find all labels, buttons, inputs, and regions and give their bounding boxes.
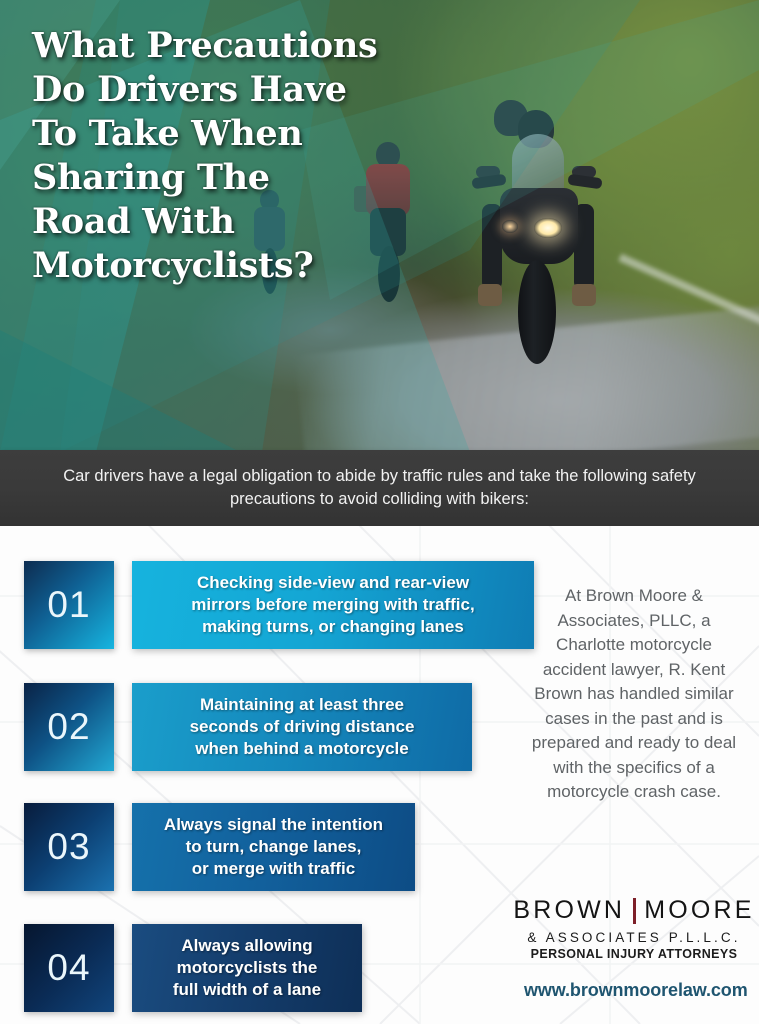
list-item-number-badge: 03 — [24, 803, 114, 891]
logo-name-left: BROWN — [513, 896, 625, 925]
list-item-bar: Always signal the intention to turn, cha… — [132, 803, 415, 891]
content-section: 01 Checking side-view and rear-view mirr… — [0, 526, 759, 1024]
list-item-text: Always signal the intention to turn, cha… — [164, 814, 383, 880]
list-item[interactable]: 04 Always allowing motorcyclists the ful… — [0, 924, 362, 1012]
list-item-number-badge: 02 — [24, 683, 114, 771]
list-item-number: 01 — [47, 584, 90, 626]
website-url-link[interactable]: www.brownmoorelaw.com — [524, 980, 744, 1001]
hero-section: What Precautions Do Drivers Have To Take… — [0, 0, 759, 452]
page-title: What Precautions Do Drivers Have To Take… — [32, 24, 452, 288]
list-item[interactable]: 01 Checking side-view and rear-view mirr… — [0, 561, 534, 649]
list-item-number-badge: 01 — [24, 561, 114, 649]
firm-logo: BROWN MOORE & ASSOCIATES P.L.L.C. PERSON… — [524, 896, 744, 1001]
list-item-number: 04 — [47, 947, 90, 989]
infographic-poster: What Precautions Do Drivers Have To Take… — [0, 0, 759, 1024]
list-item[interactable]: 03 Always signal the intention to turn, … — [0, 803, 415, 891]
intro-banner: Car drivers have a legal obligation to a… — [0, 450, 759, 526]
motorcycle-lead-icon — [480, 108, 598, 368]
firm-description: At Brown Moore & Associates, PLLC, a Cha… — [524, 584, 744, 805]
firm-description-text: At Brown Moore & Associates, PLLC, a Cha… — [524, 584, 744, 805]
list-item[interactable]: 02 Maintaining at least three seconds of… — [0, 683, 472, 771]
list-item-text: Maintaining at least three seconds of dr… — [190, 694, 415, 760]
logo-associates-line: & ASSOCIATES P.L.L.C. — [524, 930, 744, 945]
logo-tagline: PERSONAL INJURY ATTORNEYS — [524, 947, 744, 961]
list-item-bar: Checking side-view and rear-view mirrors… — [132, 561, 534, 649]
list-item-bar: Maintaining at least three seconds of dr… — [132, 683, 472, 771]
list-item-number: 02 — [47, 706, 90, 748]
logo-divider-bar — [633, 898, 636, 924]
list-item-text: Checking side-view and rear-view mirrors… — [191, 572, 474, 638]
list-item-text: Always allowing motorcyclists the full w… — [173, 935, 321, 1001]
list-item-bar: Always allowing motorcyclists the full w… — [132, 924, 362, 1012]
logo-name-right: MOORE — [644, 896, 754, 925]
logo-wordmark: BROWN MOORE — [524, 896, 744, 925]
list-item-number: 03 — [47, 826, 90, 868]
list-item-number-badge: 04 — [24, 924, 114, 1012]
intro-banner-text: Car drivers have a legal obligation to a… — [50, 465, 710, 511]
